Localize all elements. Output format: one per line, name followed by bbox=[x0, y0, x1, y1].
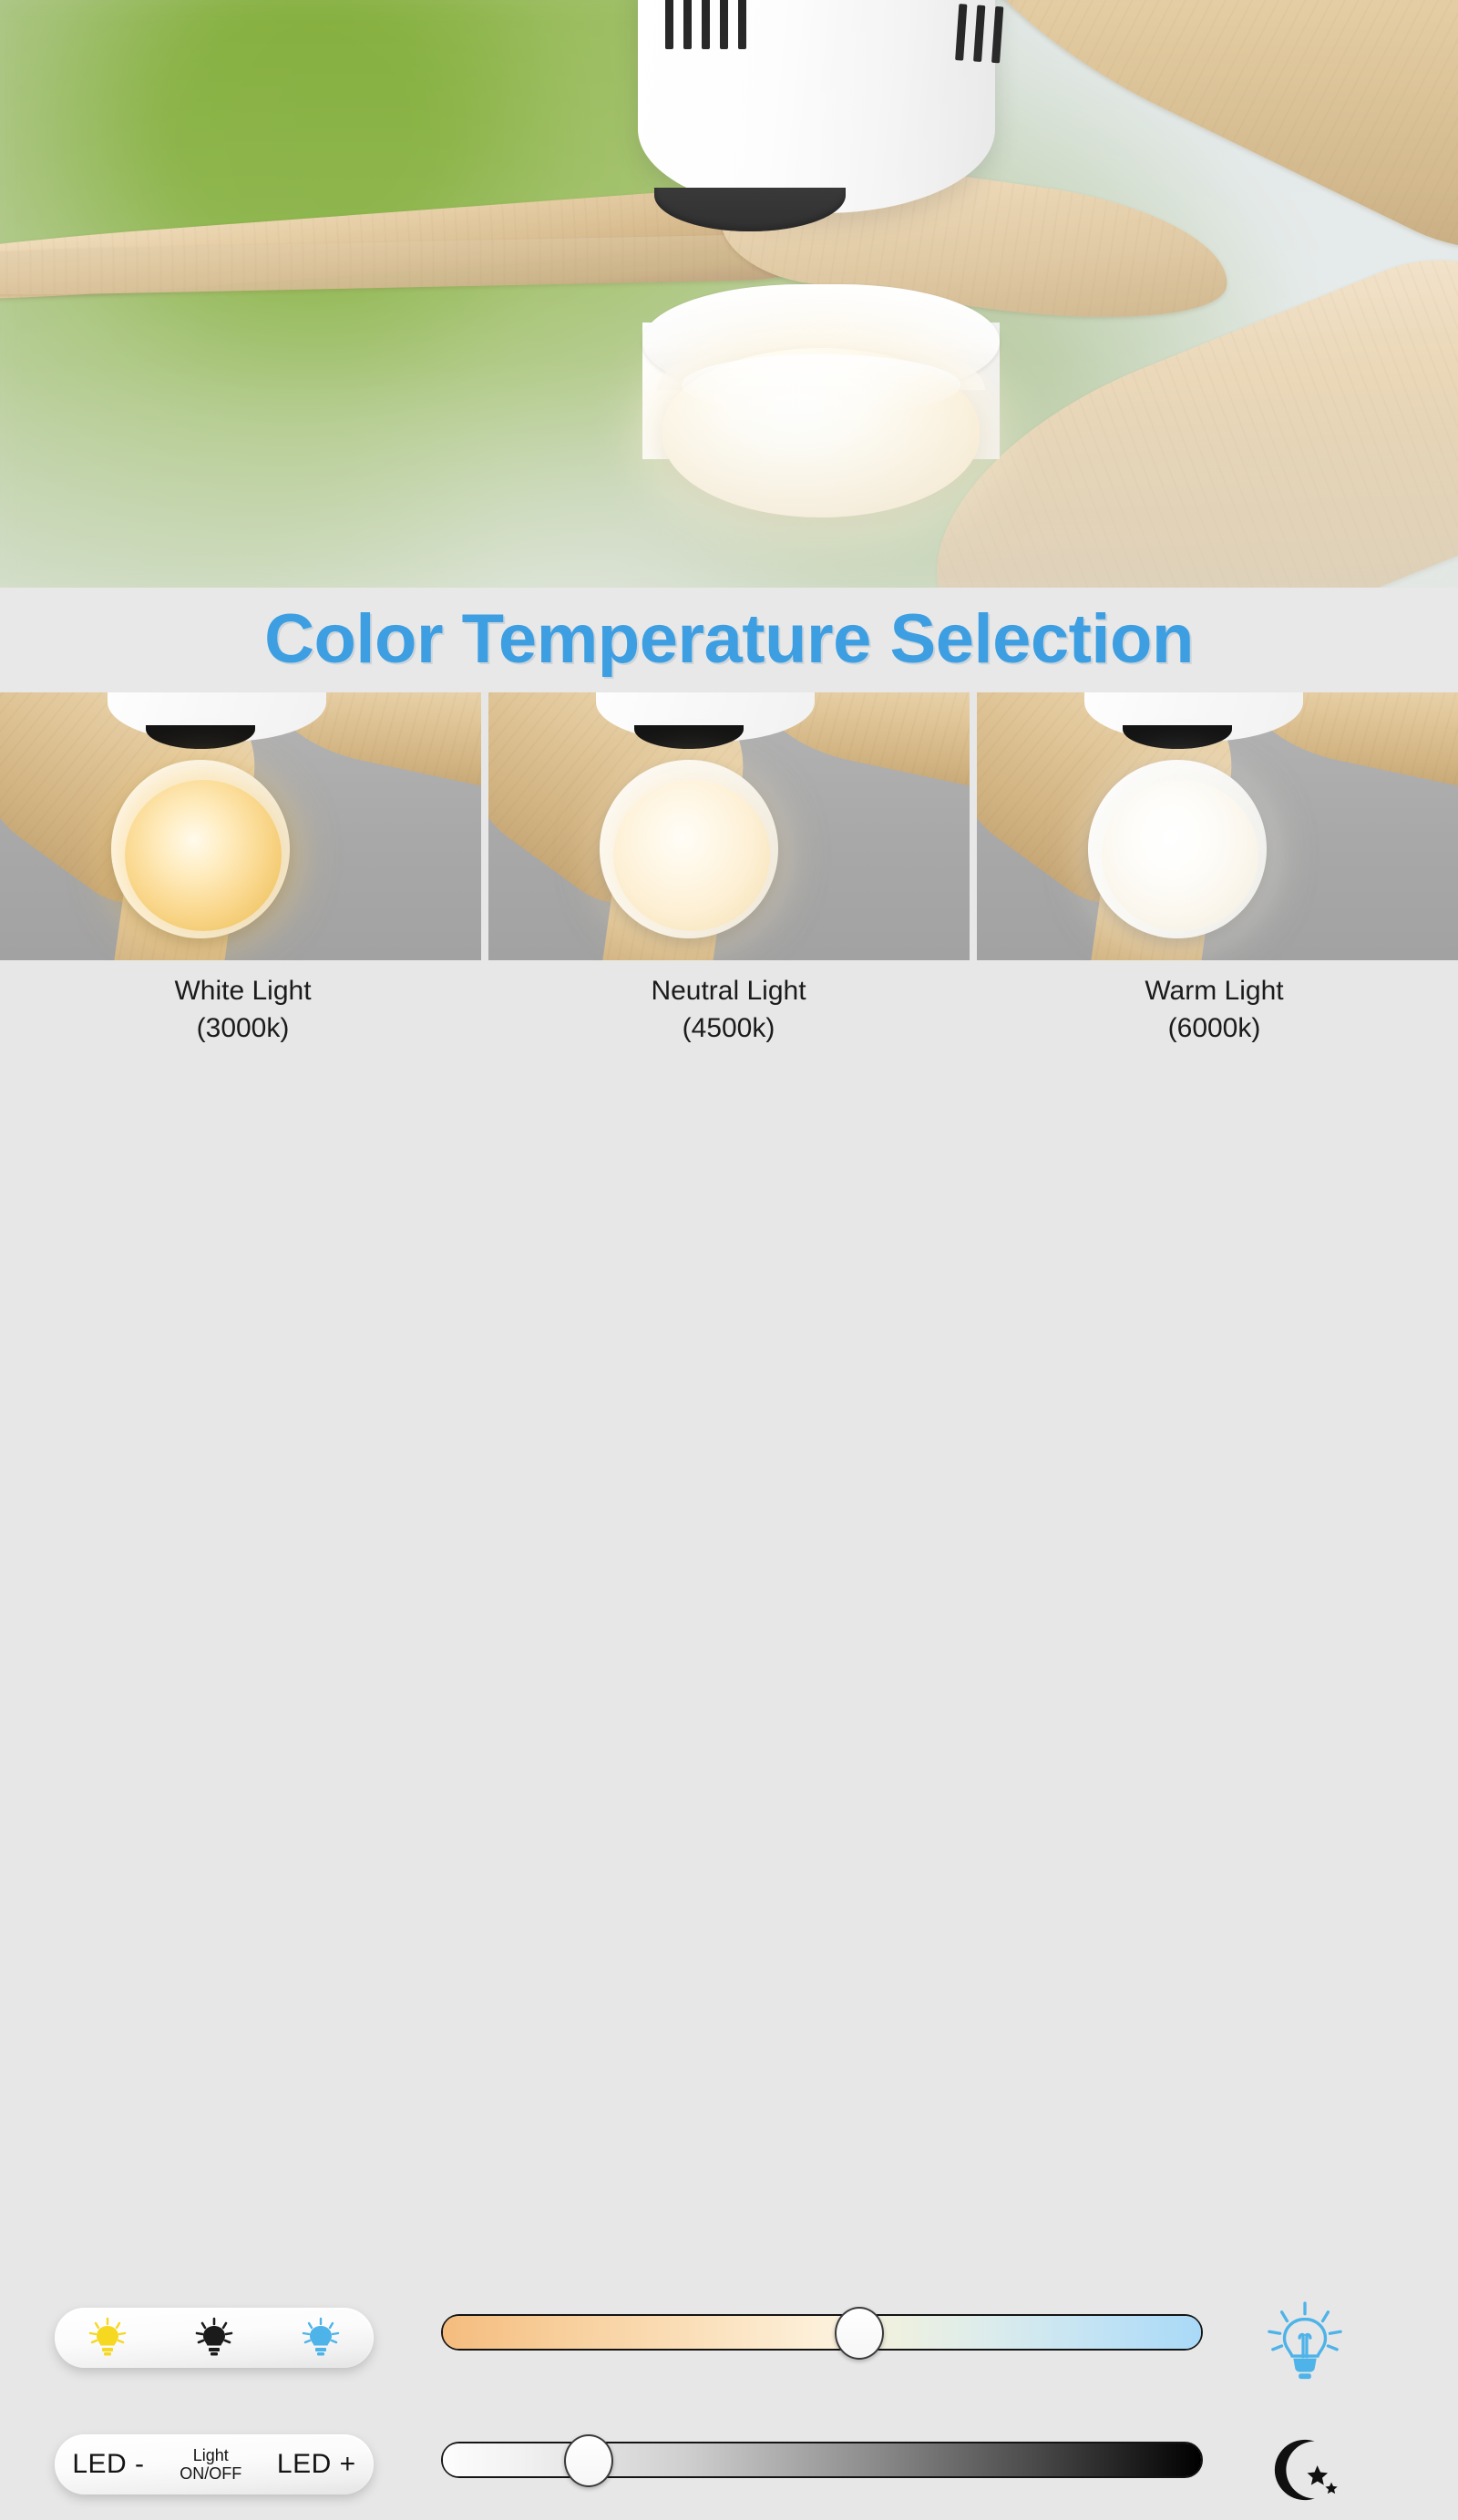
led-minus-button[interactable]: LED - bbox=[72, 2449, 144, 2480]
panel-white-light bbox=[0, 692, 481, 960]
lightbulb-icon bbox=[87, 2316, 128, 2360]
panel-led-lamp bbox=[1088, 760, 1267, 938]
panel-captions: White Light (3000k) Neutral Light (4500k… bbox=[0, 973, 1458, 1073]
caption-neutral-light: Neutral Light (4500k) bbox=[486, 973, 971, 1073]
caption-line-1: White Light bbox=[174, 976, 311, 1006]
panel-warm-light bbox=[977, 692, 1458, 960]
moon-stars-icon bbox=[1250, 2420, 1360, 2520]
panel-lamp-lens bbox=[1102, 780, 1258, 931]
remote-led-button-row[interactable]: LED - Light ON/OFF LED + bbox=[55, 2434, 374, 2494]
light-on-off-button[interactable]: Light ON/OFF bbox=[180, 2446, 241, 2483]
caption-line-2: (4500k) bbox=[486, 1010, 971, 1048]
crescent-moon-stars-icon bbox=[1266, 2431, 1344, 2509]
hero-light-veil bbox=[0, 0, 1458, 588]
led-plus-button[interactable]: LED + bbox=[277, 2449, 356, 2480]
panel-lamp-lens bbox=[125, 780, 282, 931]
panel-lamp-lens bbox=[613, 780, 770, 931]
title-band: Color Temperature Selection bbox=[0, 588, 1458, 691]
slider-thumb[interactable] bbox=[564, 2434, 613, 2487]
caption-line-2: (6000k) bbox=[971, 1010, 1457, 1048]
panel-led-lamp bbox=[111, 760, 290, 938]
caption-warm-light: Warm Light (6000k) bbox=[971, 973, 1457, 1073]
bulb-button-blue[interactable] bbox=[301, 2316, 341, 2360]
remote-bulb-button-row[interactable] bbox=[55, 2308, 374, 2368]
brightness-slider[interactable] bbox=[441, 2442, 1203, 2478]
slider-track bbox=[443, 2443, 1201, 2476]
panel-neutral-light bbox=[488, 692, 970, 960]
slider-track bbox=[443, 2316, 1201, 2349]
light-on-off-line-2: ON/OFF bbox=[180, 2464, 241, 2483]
bulb-button-black[interactable] bbox=[194, 2316, 234, 2360]
caption-line-1: Neutral Light bbox=[651, 976, 806, 1006]
bulb-blue-icon bbox=[1250, 2292, 1360, 2392]
slider-thumb[interactable] bbox=[835, 2307, 884, 2360]
lightbulb-icon bbox=[301, 2316, 341, 2360]
caption-line-2: (3000k) bbox=[0, 1010, 486, 1048]
light-on-off-line-1: Light bbox=[193, 2446, 229, 2464]
remote-control-diagram: LED - Light ON/OFF LED + bbox=[0, 1139, 1458, 1412]
bulb-button-yellow[interactable] bbox=[87, 2316, 128, 2360]
color-temperature-panels bbox=[0, 692, 1458, 960]
caption-white-light: White Light (3000k) bbox=[0, 973, 486, 1073]
caption-line-1: Warm Light bbox=[1145, 976, 1283, 1006]
page-title: Color Temperature Selection bbox=[264, 599, 1194, 679]
lightbulb-rays-icon bbox=[1266, 2300, 1344, 2385]
panel-led-lamp bbox=[600, 760, 778, 938]
hero-product-image bbox=[0, 0, 1458, 588]
color-temperature-slider[interactable] bbox=[441, 2314, 1203, 2351]
lightbulb-icon bbox=[194, 2316, 234, 2360]
